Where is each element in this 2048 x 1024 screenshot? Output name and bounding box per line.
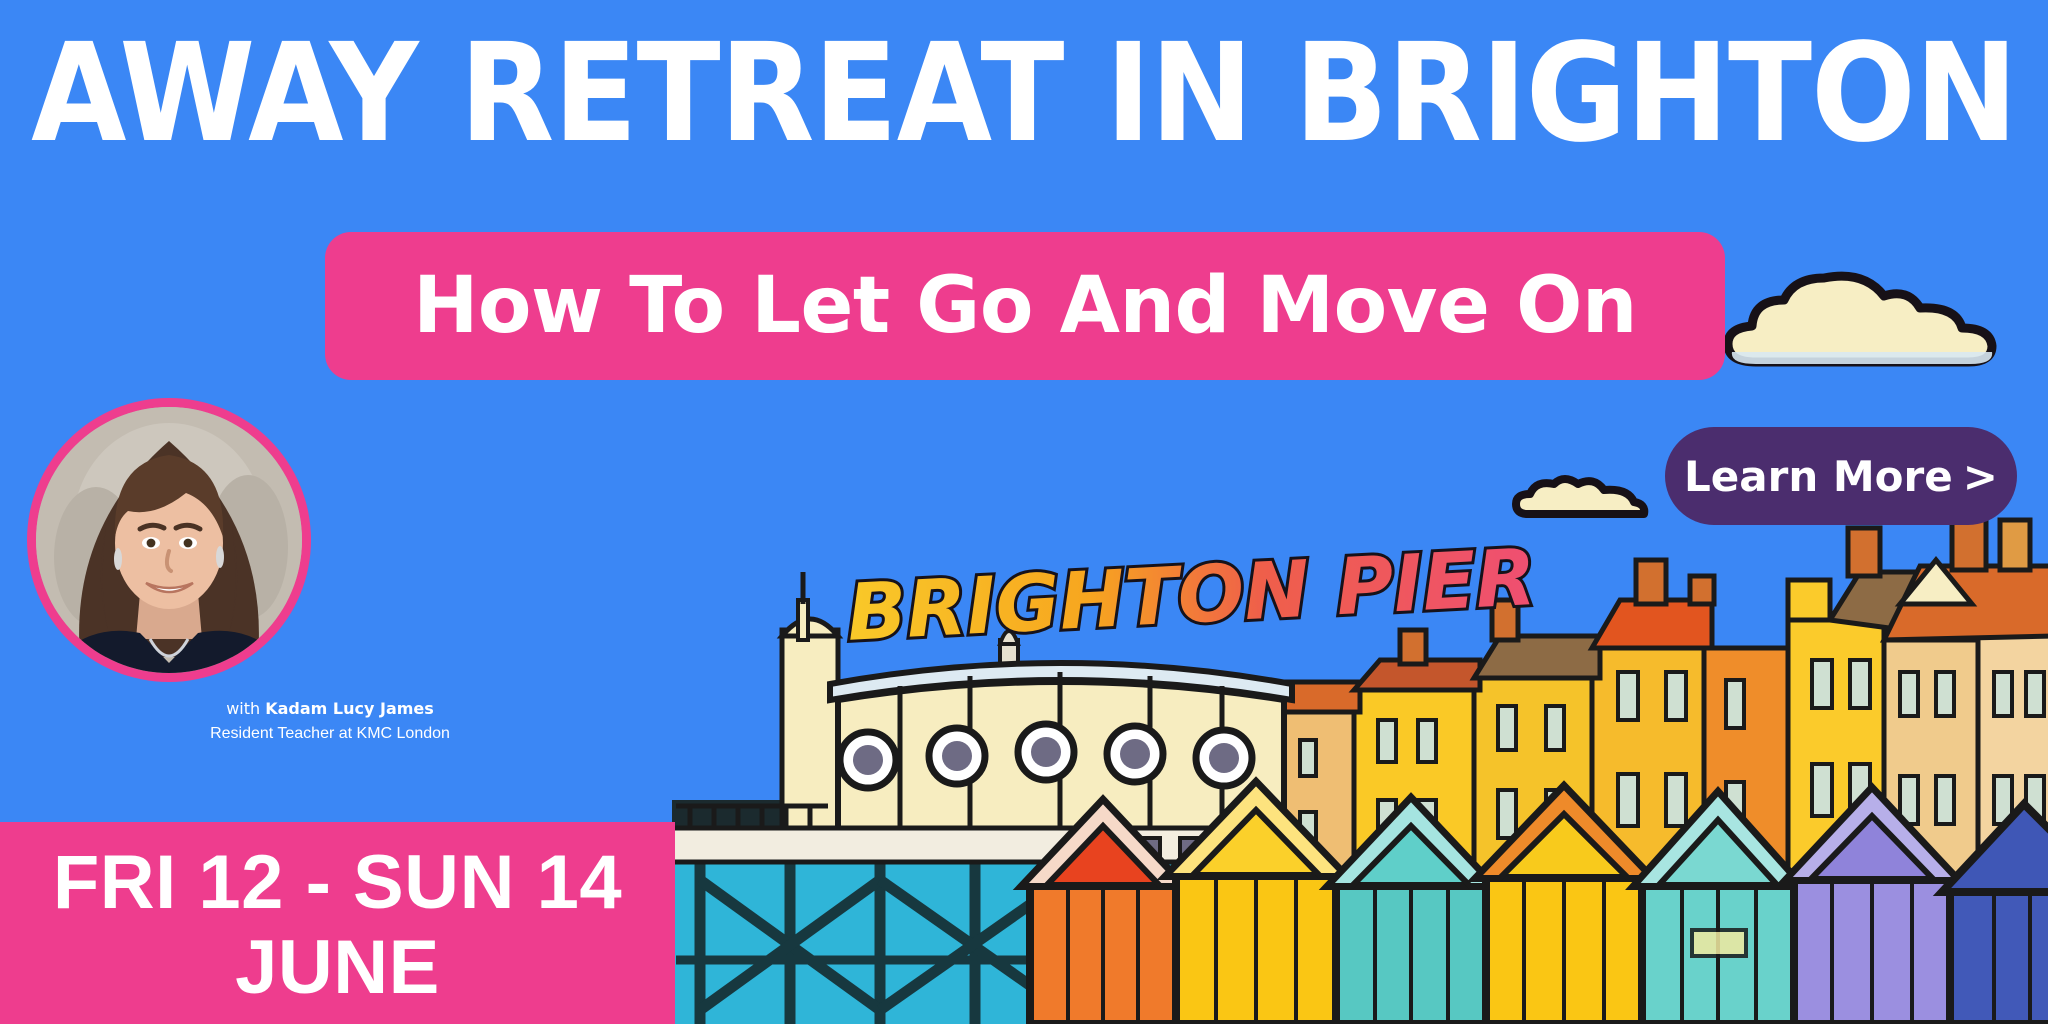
speaker-portrait-photo: [36, 407, 302, 673]
date-range-line: FRI 12 - SUN 14: [53, 840, 622, 925]
cloud-small-left: [1512, 472, 1652, 522]
event-promo-banner: BRIGHTON PIER AWAY RETREAT IN BRIGHTON H…: [0, 0, 2048, 1024]
speaker-prefix: with: [226, 699, 265, 718]
subtitle-text: How To Let Go And Move On: [413, 267, 1637, 345]
learn-more-button[interactable]: Learn More >: [1665, 427, 2017, 525]
speaker-credit: with Kadam Lucy James Resident Teacher a…: [20, 700, 640, 743]
page-title: AWAY RETREAT IN BRIGHTON: [0, 26, 2048, 162]
avatar: [27, 398, 311, 682]
subtitle-banner: How To Let Go And Move On: [325, 232, 1725, 380]
speaker-name: Kadam Lucy James: [265, 699, 434, 718]
cloud-large-right: [1712, 266, 2032, 376]
event-date-badge: FRI 12 - SUN 14 JUNE: [0, 822, 675, 1024]
learn-more-label: Learn More: [1684, 452, 1953, 501]
chevron-right-icon: >: [1963, 452, 1998, 501]
date-month-line: JUNE: [235, 925, 440, 1010]
speaker-name-line: with Kadam Lucy James: [20, 700, 640, 718]
speaker-role: Resident Teacher at KMC London: [20, 724, 640, 743]
